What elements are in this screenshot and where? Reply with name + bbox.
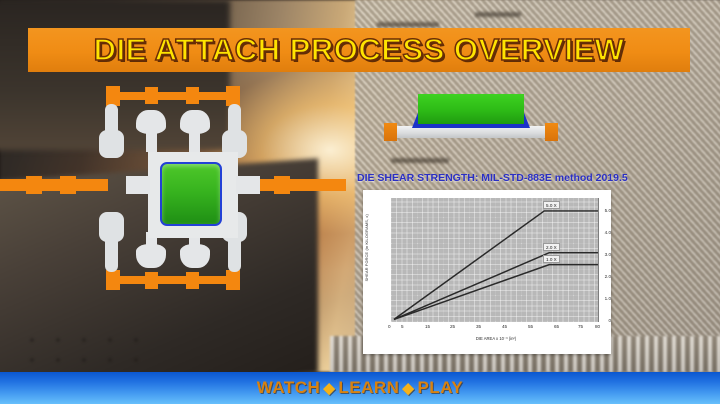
- chart-x-axis-label: DIE AREA x 10⁻³ (in²): [393, 336, 599, 341]
- footer-banner: WATCH ◆ LEARN ◆ PLAY: [0, 372, 720, 404]
- trace-segment-left: [0, 179, 108, 191]
- die-cross-section: [418, 94, 524, 124]
- trace-pad-right-outer: [274, 176, 290, 194]
- chart-plot-area: 5.0 X 2.0 X 1.0 X: [391, 198, 599, 322]
- trace-segment-top: [110, 92, 238, 100]
- contact-pad-left: [384, 123, 397, 141]
- x-tick-7: 65: [554, 324, 559, 329]
- trace-pad-left-inner: [60, 176, 76, 194]
- die-attach-cross-section: [386, 92, 556, 144]
- footer-word-watch: WATCH: [257, 378, 321, 398]
- die-attach-leadframe-schematic: [88, 86, 288, 298]
- die-pad-tie-bar-left: [126, 176, 150, 194]
- trace-pad-top-mid-left: [145, 87, 158, 104]
- die-shear-strength-chart: SHEAR FORCE (in KILOGRAMS, x) 0 1.0 2.0 …: [363, 190, 611, 354]
- semiconductor-die: [160, 162, 222, 226]
- footer-tagline: WATCH ◆ LEARN ◆ PLAY: [257, 378, 464, 398]
- footer-word-learn: LEARN: [338, 378, 399, 398]
- slide-canvas: DIE ATTACH PROCESS OVERVIEW: [0, 0, 720, 404]
- lead-left-upper-foot: [99, 130, 124, 158]
- chart-y-axis-label: SHEAR FORCE (in KILOGRAMS, x): [365, 214, 369, 281]
- trace-segment-bottom: [110, 276, 238, 284]
- x-tick-5: 45: [502, 324, 507, 329]
- trace-pad-top-mid-right: [186, 87, 199, 104]
- x-tick-8: 75: [578, 324, 583, 329]
- x-tick-4: 35: [476, 324, 481, 329]
- series-label-0: 5.0 X: [543, 201, 560, 209]
- x-tick-6: 55: [528, 324, 533, 329]
- lead-left-lower-foot: [99, 212, 124, 242]
- trace-pad-bottom-right: [226, 270, 240, 290]
- page-title: DIE ATTACH PROCESS OVERVIEW: [94, 32, 625, 68]
- chart-title: DIE SHEAR STRENGTH: MIL-STD-883E method …: [357, 172, 628, 184]
- x-tick-2: 15: [425, 324, 430, 329]
- x-tick-1: 5: [401, 324, 404, 329]
- title-banner: DIE ATTACH PROCESS OVERVIEW: [28, 28, 690, 72]
- chart-curves: [391, 198, 598, 321]
- x-tick-3: 25: [450, 324, 455, 329]
- series-label-2: 1.0 X: [543, 255, 560, 263]
- diamond-separator-icon-2: ◆: [402, 379, 414, 397]
- trace-pad-top-left: [106, 86, 120, 106]
- trace-pad-left-outer: [26, 176, 42, 194]
- x-tick-0: 0: [388, 324, 391, 329]
- bond-wire-top-left: [146, 126, 157, 152]
- trace-pad-bottom-mid-right: [186, 272, 199, 289]
- diamond-separator-icon-1: ◆: [323, 379, 335, 397]
- bond-wire-top-right: [189, 126, 200, 152]
- trace-pad-bottom-mid-left: [145, 272, 158, 289]
- trace-pad-bottom-left: [106, 270, 120, 290]
- series-line-2: [394, 265, 598, 320]
- x-tick-9: 80: [595, 324, 600, 329]
- footer-word-play: PLAY: [417, 378, 463, 398]
- background-dot-grid: [20, 330, 180, 376]
- series-label-1: 2.0 X: [543, 243, 560, 251]
- contact-pad-right: [545, 123, 558, 141]
- die-pad-tie-bar-right: [236, 176, 260, 194]
- trace-pad-top-right: [226, 86, 240, 106]
